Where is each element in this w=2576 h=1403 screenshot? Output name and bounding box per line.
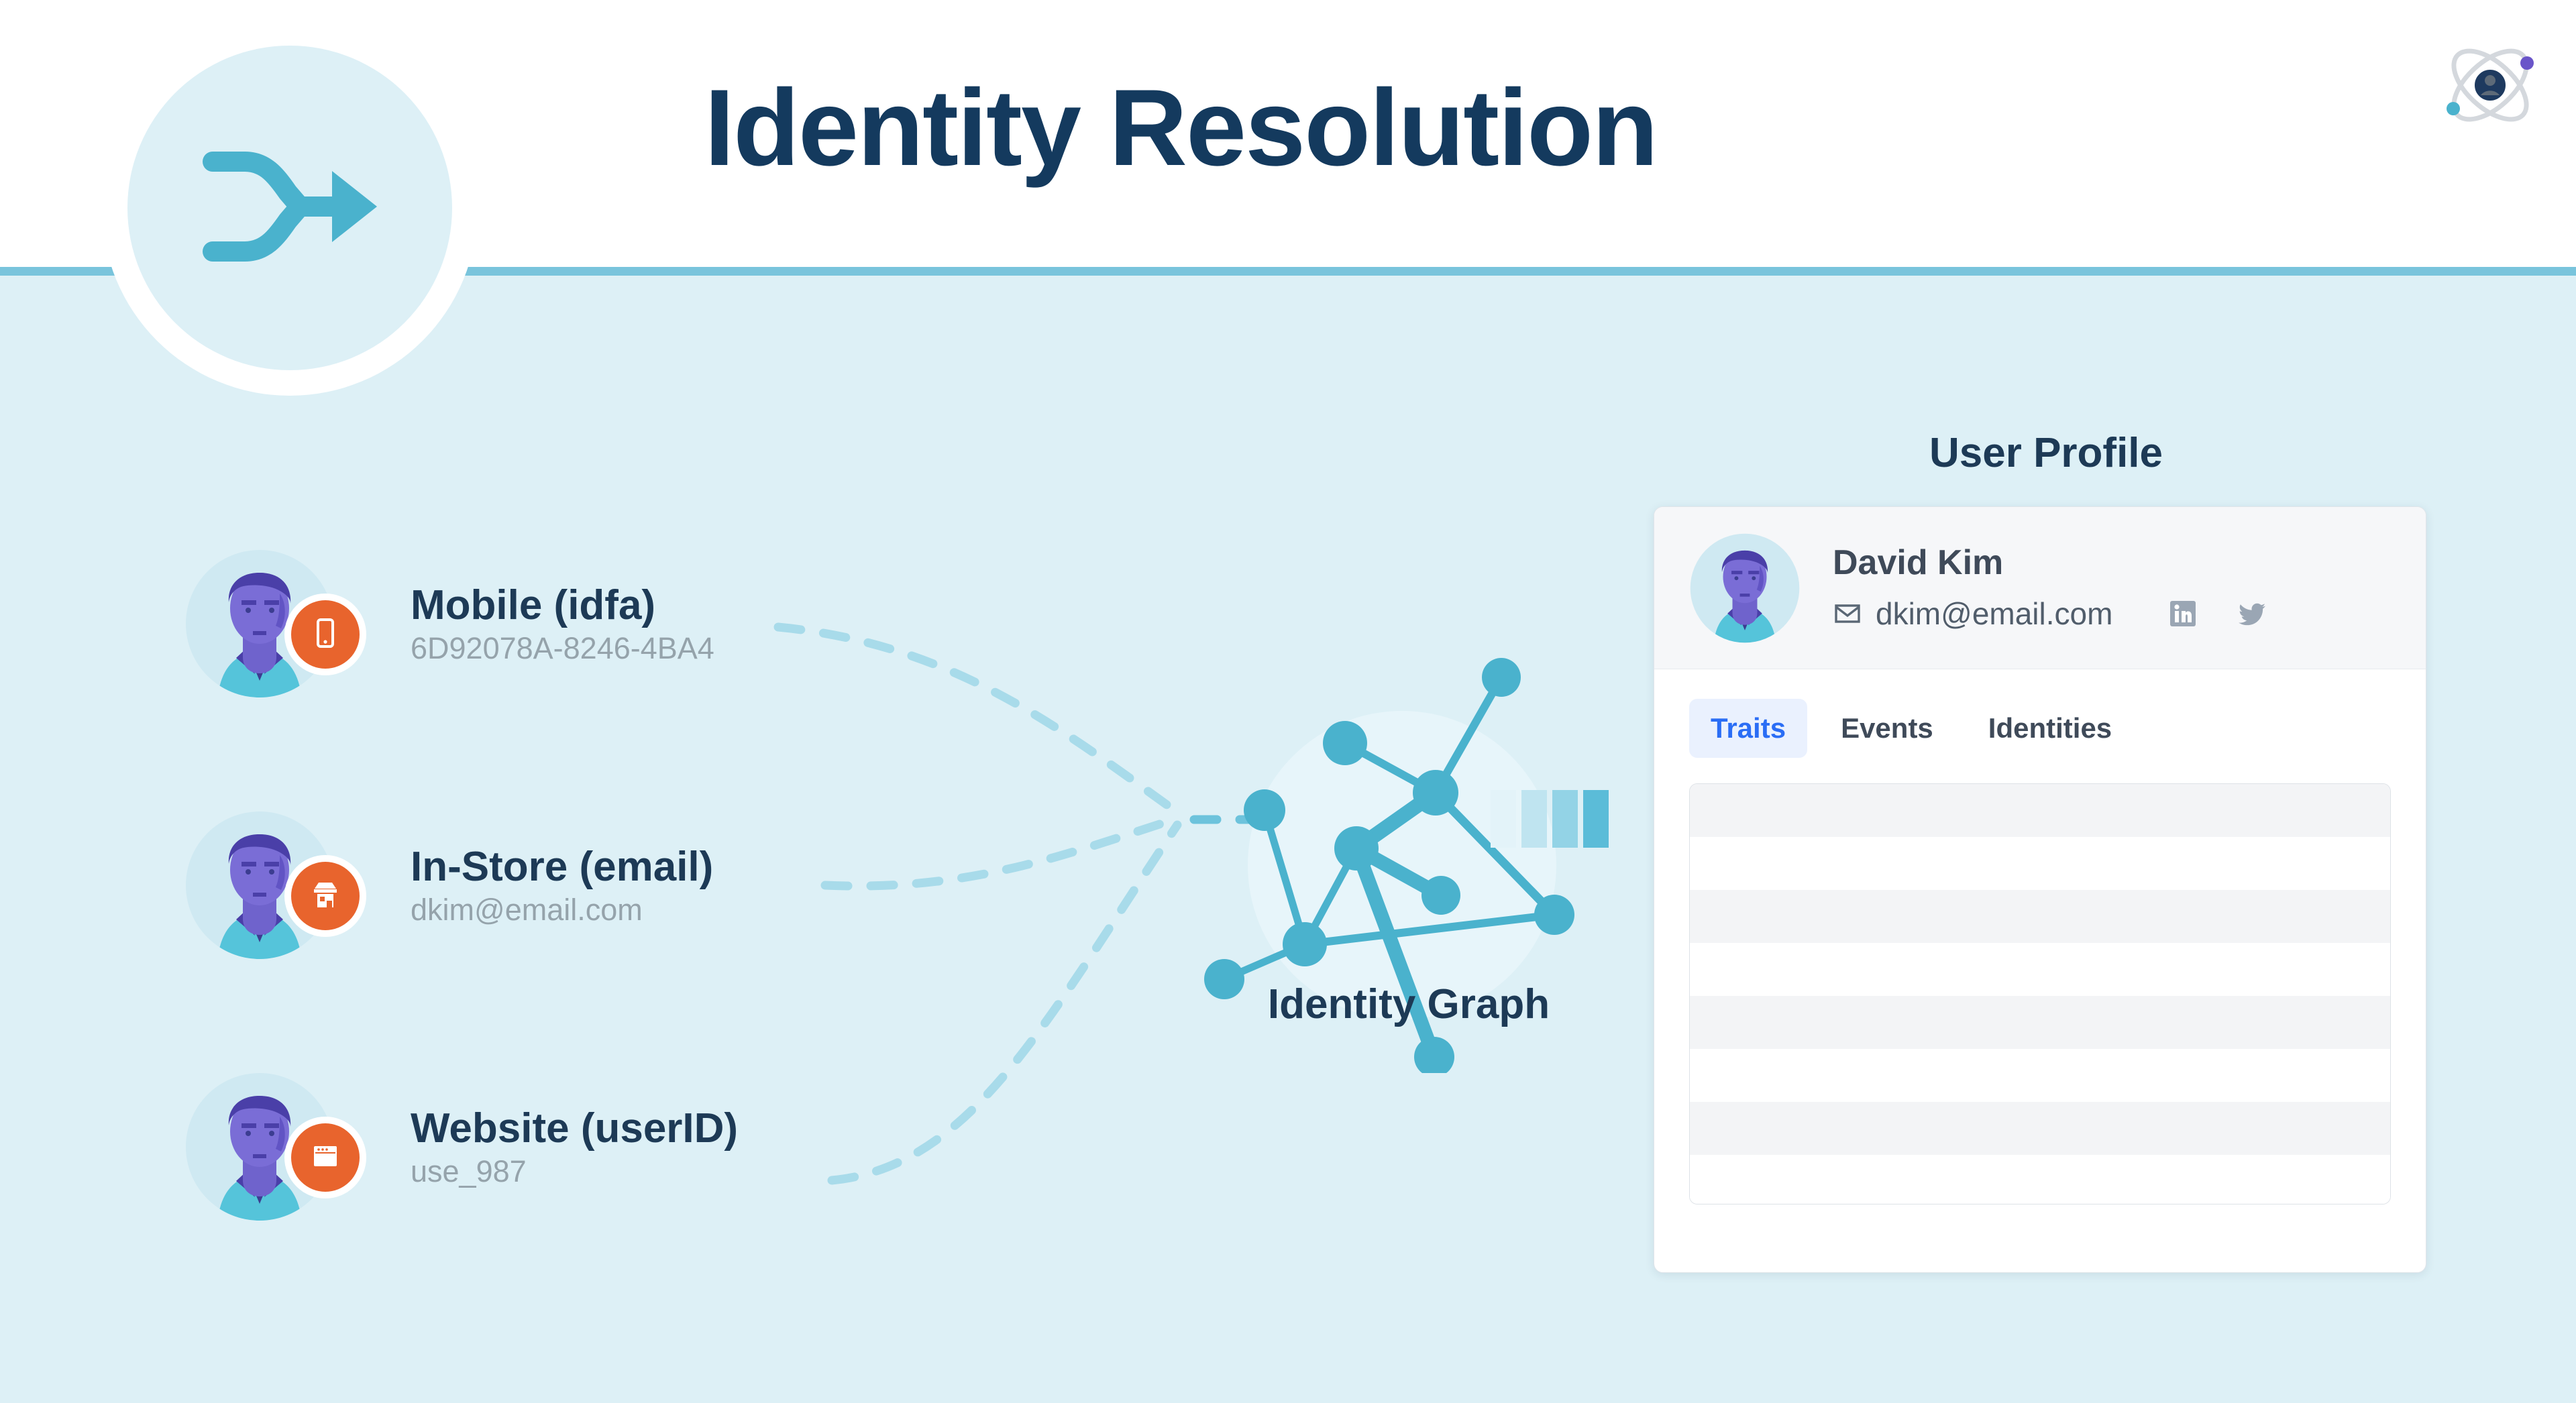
slide-canvas: Identity Resolution [0, 0, 2576, 1403]
user-profile-card: David Kim dkim@email.com [1654, 506, 2426, 1273]
flow-bar [1583, 790, 1609, 848]
source-badge [284, 1117, 366, 1198]
profile-email: dkim@email.com [1876, 596, 2112, 632]
profile-tabs: Traits Events Identities [1654, 669, 2426, 758]
flow-bar [1521, 790, 1547, 848]
traits-table [1689, 783, 2391, 1204]
linkedin-icon[interactable] [2167, 598, 2198, 629]
browser-window-icon [308, 1139, 343, 1177]
store-front-icon [308, 877, 343, 915]
avatar [1688, 531, 1802, 645]
source-value: 6D92078A-8246-4BA4 [411, 632, 714, 664]
table-row[interactable] [1690, 890, 2390, 943]
table-row[interactable] [1690, 996, 2390, 1049]
source-value: use_987 [411, 1156, 738, 1187]
table-row[interactable] [1690, 943, 2390, 996]
page-title: Identity Resolution [510, 74, 1851, 182]
table-row[interactable] [1690, 837, 2390, 890]
user-profile-heading: User Profile [1650, 429, 2442, 477]
tab-identities[interactable]: Identities [1967, 699, 2133, 758]
source-value: dkim@email.com [411, 894, 713, 925]
source-title: In-Store (email) [411, 845, 713, 889]
flow-bars [1491, 790, 1609, 848]
merge-arrow-icon [193, 123, 387, 294]
tab-events[interactable]: Events [1819, 699, 1955, 758]
source-title: Website (userID) [411, 1107, 738, 1150]
profile-card-header: David Kim dkim@email.com [1654, 507, 2426, 669]
source-badge [284, 855, 366, 937]
mobile-phone-icon [308, 616, 343, 654]
source-title: Mobile (idfa) [411, 583, 714, 627]
flow-bar [1552, 790, 1578, 848]
table-row[interactable] [1690, 1102, 2390, 1155]
atom-person-logo [2430, 35, 2551, 135]
twitter-icon[interactable] [2237, 598, 2268, 629]
table-row[interactable] [1690, 784, 2390, 837]
source-row-website[interactable]: Website (userID) use_987 [182, 1070, 738, 1224]
merge-badge-disc [127, 46, 452, 370]
source-row-mobile[interactable]: Mobile (idfa) 6D92078A-8246-4BA4 [182, 547, 714, 701]
source-badge [284, 594, 366, 675]
identity-graph-label: Identity Graph [1140, 980, 1677, 1028]
source-row-instore[interactable]: In-Store (email) dkim@email.com [182, 808, 713, 962]
profile-name: David Kim [1833, 544, 2268, 582]
table-row[interactable] [1690, 1049, 2390, 1102]
tab-traits[interactable]: Traits [1689, 699, 1807, 758]
flow-bar [1491, 790, 1516, 848]
envelope-icon [1833, 599, 1862, 628]
table-row[interactable] [1690, 1155, 2390, 1204]
